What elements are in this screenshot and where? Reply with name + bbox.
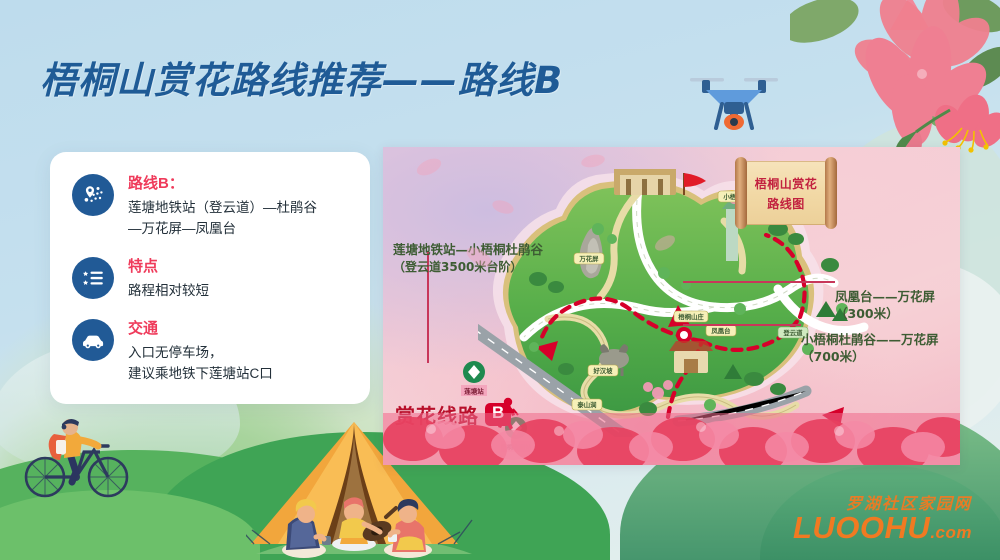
logo-chinese-name: 罗湖社区家园网	[793, 490, 972, 514]
svg-text:万花屏: 万花屏	[578, 254, 599, 263]
svg-text:凤凰台: 凤凰台	[711, 326, 731, 335]
map-label-right-2: 小梧桐杜鹃谷——万花屏 （700米）	[801, 315, 939, 383]
cyclist-illustration	[18, 402, 148, 498]
page-title: 梧桐山赏花路线推荐——路线B	[40, 50, 563, 104]
info-row-transport: 交通 入口无停车场， 建议乘地铁下莲塘站C口	[72, 319, 352, 385]
leader-line-right-1	[683, 281, 835, 283]
map-landmark-shrine	[669, 341, 713, 373]
info-row-route: 路线B： 莲塘地铁站（登云道）—杜鹃谷 —万花屏—凤凰台	[72, 174, 352, 240]
info-row-transport-body: 交通 入口无停车场， 建议乘地铁下莲塘站C口	[128, 319, 273, 385]
left-hill-c	[0, 490, 260, 560]
logo-tld: .com	[930, 523, 972, 542]
map-scroll-banner: 梧桐山赏花 路线图	[735, 157, 837, 229]
map-label-left: 莲塘地铁站—小梧桐杜鹃谷 （登云道3500米台阶）	[393, 225, 543, 292]
leader-line-right-2	[683, 324, 801, 326]
info-row-feature-text: 路程相对较短	[128, 281, 209, 302]
info-row-route-title: 路线B：	[128, 175, 317, 193]
azalea-flowers-icon	[790, 0, 1000, 165]
info-row-transport-title: 交通	[128, 320, 273, 338]
map-label-right-2-sub: （700米）	[801, 349, 939, 366]
map-scroll-body: 梧桐山赏花 路线图	[745, 161, 827, 225]
map-landmark-temple	[608, 169, 682, 195]
map-scroll-line2: 路线图	[767, 195, 805, 212]
logo-english-name: LUOOHU.com	[793, 510, 972, 546]
map-scroll-line1: 梧桐山赏花	[755, 175, 818, 192]
svg-text:好汉坡: 好汉坡	[592, 366, 613, 375]
info-row-feature: 特点 路程相对较短	[72, 257, 352, 302]
drone-icon	[686, 60, 782, 134]
scroll-rod-left	[735, 157, 747, 229]
logo-word: LUOOHU	[793, 510, 930, 545]
map-label-right-1-main: 凤凰台——万花屏	[835, 289, 935, 304]
car-icon	[72, 319, 114, 361]
map-label-left-main: 莲塘地铁站—小梧桐杜鹃谷	[393, 242, 543, 257]
map-label-right-2-main: 小梧桐杜鹃谷——万花屏	[801, 332, 939, 347]
route-info-card: 路线B： 莲塘地铁站（登云道）—杜鹃谷 —万花屏—凤凰台 特点 路程相对较短	[50, 152, 370, 404]
svg-text:梧桐山庄: 梧桐山庄	[678, 312, 704, 321]
info-row-route-body: 路线B： 莲塘地铁站（登云道）—杜鹃谷 —万花屏—凤凰台	[128, 174, 317, 240]
list-icon	[72, 257, 114, 299]
scenic-route-map[interactable]: 万花屏 凤凰台 小梧桐 大望门 杜鹃谷 好汉坡 泰山涧 梧桐山庄 登云道 莲塘站…	[383, 147, 960, 465]
map-label-left-sub: （登云道3500米台阶）	[393, 259, 543, 275]
map-azalea-band	[383, 393, 960, 465]
info-row-route-text: 莲塘地铁站（登云道）—杜鹃谷 —万花屏—凤凰台	[128, 198, 317, 240]
info-row-feature-body: 特点 路程相对较短	[128, 257, 209, 302]
site-logo: 罗湖社区家园网 LUOOHU.com	[793, 490, 972, 546]
scroll-rod-right	[825, 157, 837, 229]
route-pin-icon	[72, 174, 114, 216]
info-row-transport-text: 入口无停车场， 建议乘地铁下莲塘站C口	[128, 343, 273, 385]
info-row-feature-title: 特点	[128, 258, 209, 276]
